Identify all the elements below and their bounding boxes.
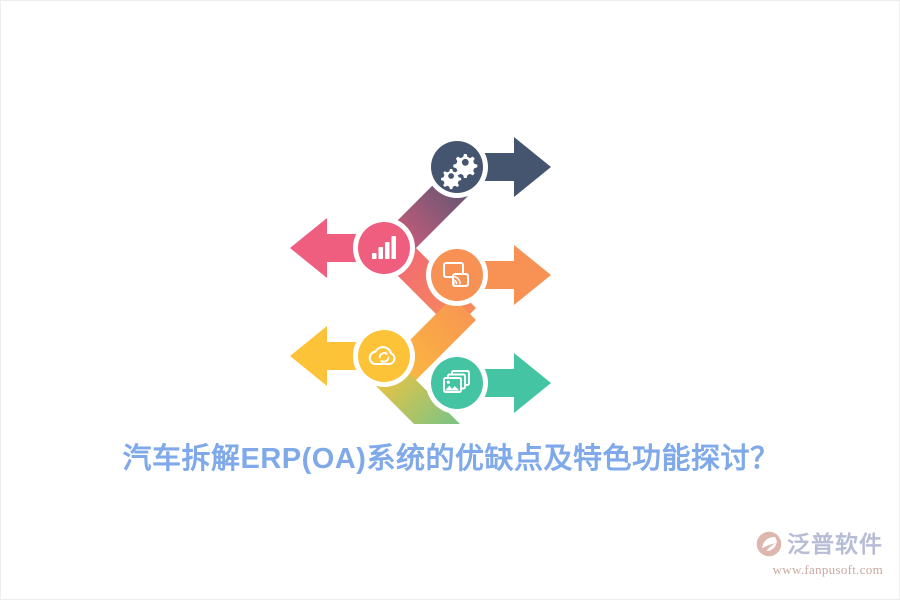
page-title: 汽车拆解ERP(OA)系统的优缺点及特色功能探讨？	[1, 435, 900, 477]
watermark: 泛普软件 www.fanpusoft.com	[743, 527, 883, 589]
node-circle-orange	[426, 244, 488, 306]
watermark-url: www.fanpusoft.com	[743, 562, 883, 578]
photo-gallery-icon	[444, 371, 469, 392]
node-circle-navy	[426, 136, 488, 198]
zigzag-arrow-diagram	[271, 119, 571, 424]
node-circle-teal	[426, 352, 488, 414]
node-circle-pink	[353, 217, 415, 279]
watermark-brand-row: 泛普软件	[743, 527, 883, 561]
infographic-page: 汽车拆解ERP(OA)系统的优缺点及特色功能探讨？ 泛普软件 www.fanpu…	[0, 0, 900, 600]
fanpu-logo-icon	[755, 530, 783, 558]
node-circle-yellow	[353, 325, 415, 387]
watermark-brand: 泛普软件	[787, 533, 883, 556]
